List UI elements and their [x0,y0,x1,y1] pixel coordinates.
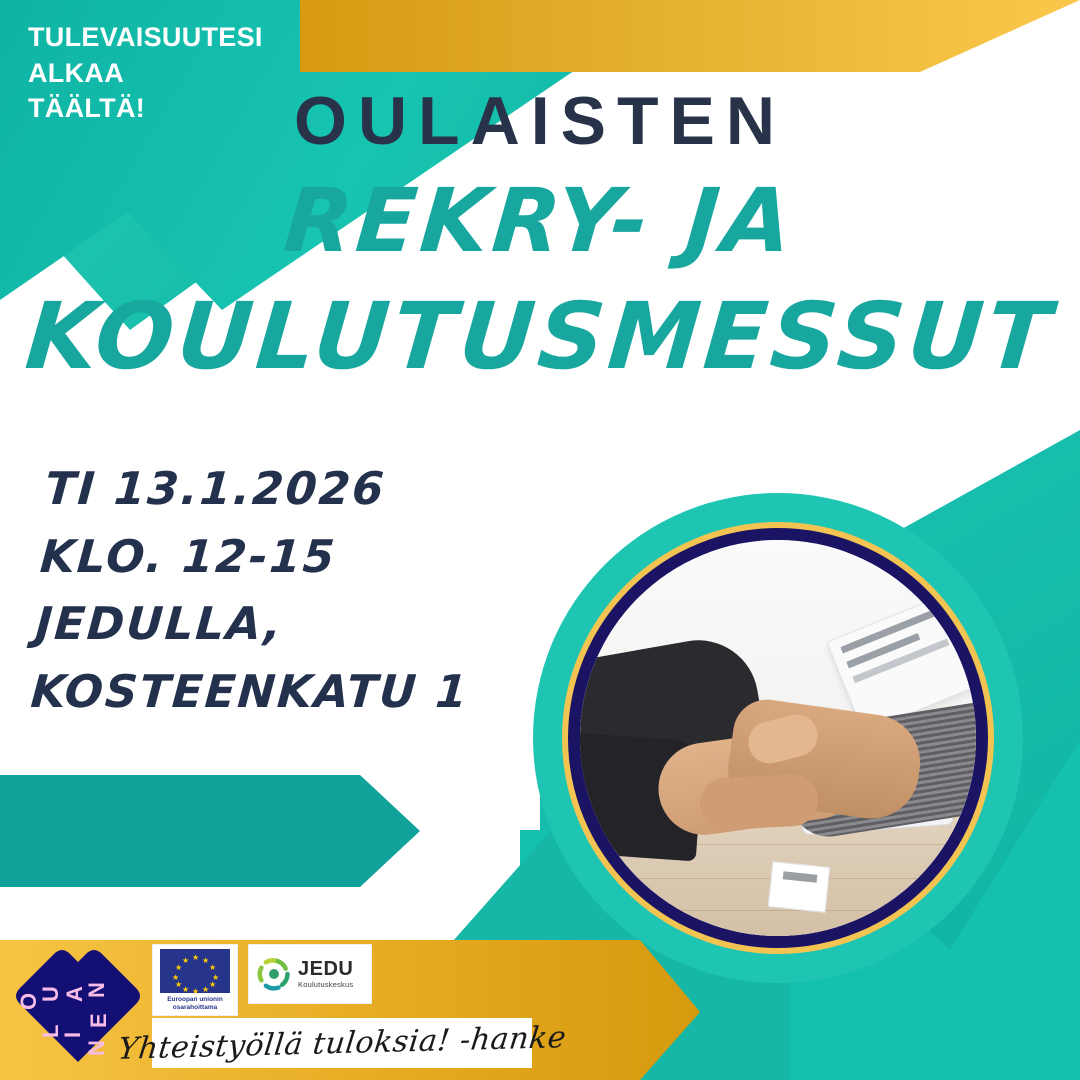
svg-text:N: N [84,982,109,998]
project-tagline-box: Yhteistyöllä tuloksia! -hanke [152,1018,532,1068]
poster-canvas: OULAISTEN REKRY- JA KOULUTUSMESSUT TI 13… [0,0,1080,1080]
photo-ring-gold [562,522,994,954]
handshake-photo [580,540,976,936]
tagline-line-1: TULEVAISUUTESI ALKAA [28,20,358,91]
event-address: KOSTEENKATU 1 [29,658,514,726]
event-time: KLO. 12-15 [38,523,523,591]
eu-caption-line-2: osarahoittama [156,1004,234,1012]
tagline-banner-text: TULEVAISUUTESI ALKAA TÄÄLTÄ! [28,20,358,127]
event-details: TI 13.1.2026 KLO. 12-15 JEDULLA, KOSTEEN… [29,455,528,725]
project-tagline: Yhteistyöllä tuloksia! -hanke [116,1020,568,1067]
eu-funding-logo: ★ ★ ★ ★ ★ ★ ★ ★ ★ ★ ★ ★ Euroopan unionin… [152,944,238,1016]
photo-ring-teal [533,493,1023,983]
svg-text:E: E [86,1013,111,1028]
jedu-name: JEDU [298,959,353,979]
event-date: TI 13.1.2026 [43,455,528,523]
eu-flag-icon: ★ ★ ★ ★ ★ ★ ★ ★ ★ ★ ★ ★ [160,949,230,993]
top-gold-band [300,0,1080,72]
eu-caption: Euroopan unionin osarahoittama [156,996,234,1012]
jedu-logo: JEDU Koulutuskeskus [248,944,372,1004]
tagline-banner [0,775,420,887]
photo-ring-navy [568,528,988,948]
svg-text:U: U [38,986,63,1002]
svg-text:N: N [84,1040,109,1056]
event-venue: JEDULLA, [33,590,518,658]
title-line-2: REKRY- JA [0,177,1080,265]
svg-text:I: I [60,1032,85,1038]
poster-headings: OULAISTEN REKRY- JA KOULUTUSMESSUT [0,86,1080,383]
jedu-subtitle: Koulutuskeskus [298,981,353,989]
eu-caption-line-1: Euroopan unionin [156,996,234,1004]
tagline-line-2: TÄÄLTÄ! [28,91,358,127]
title-line-3: KOULUTUSMESSUT [0,291,1080,383]
card-icon [768,861,830,913]
fingers [699,773,820,831]
jedu-swirl-icon [256,956,292,992]
